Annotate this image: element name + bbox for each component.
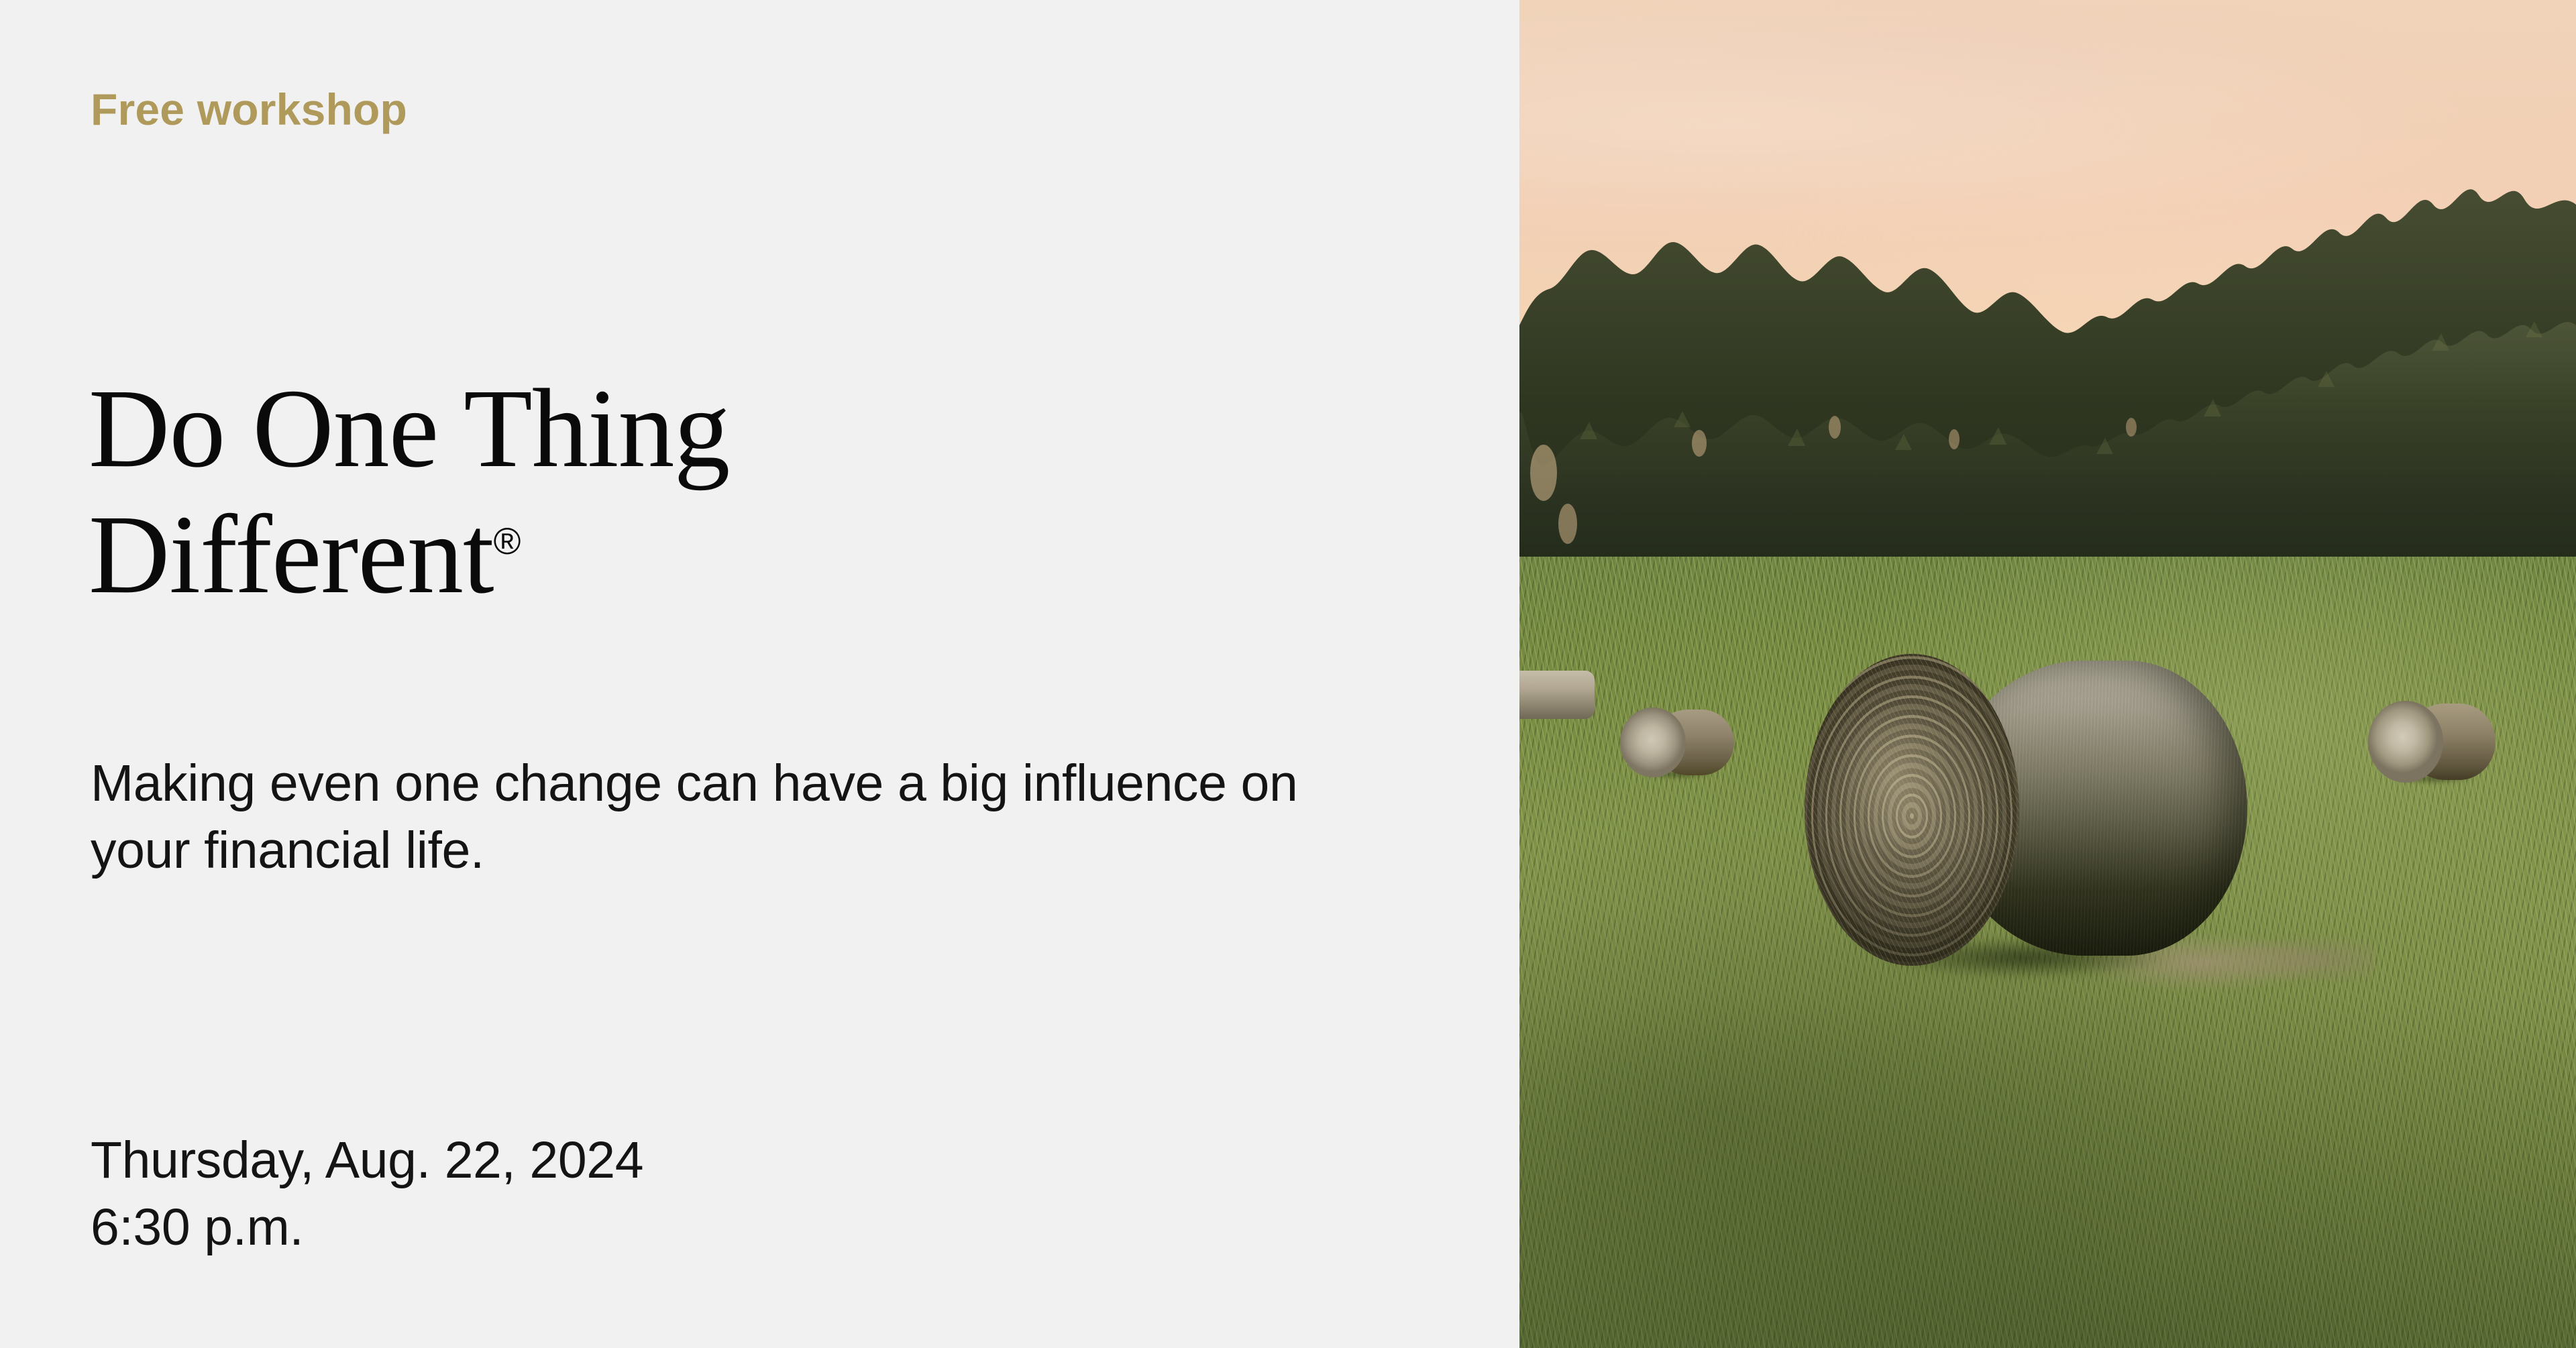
treeline xyxy=(1519,124,2576,607)
event-details: Thursday, Aug. 22, 2024 6:30 p.m. xyxy=(91,1127,643,1261)
headline-line-1: Do One Thing xyxy=(89,366,729,491)
background-hay-bale-left xyxy=(1620,708,1734,777)
workshop-promo-card: Free workshop Do One Thing Different® Ma… xyxy=(0,0,2576,1348)
bale-end-cap xyxy=(1805,654,2019,966)
foreground-hay-bale xyxy=(1805,654,2247,976)
event-date: Thursday, Aug. 22, 2024 xyxy=(91,1127,643,1194)
headline-line-2: Different xyxy=(89,492,494,617)
bale-end-cap xyxy=(1620,708,1686,777)
text-panel: Free workshop Do One Thing Different® Ma… xyxy=(0,0,1519,1348)
bale-body xyxy=(1519,671,1595,719)
registered-trademark-icon: ® xyxy=(494,520,521,562)
background-hay-bale-right xyxy=(2368,701,2495,783)
hero-photo xyxy=(1519,0,2576,1348)
event-time: 6:30 p.m. xyxy=(91,1194,643,1261)
page-title: Do One Thing Different® xyxy=(89,366,1430,618)
background-hay-bale-left-edge xyxy=(1519,671,1595,719)
eyebrow-label: Free workshop xyxy=(91,87,407,131)
bale-end-cap xyxy=(2368,701,2443,783)
subheadline-text: Making even one change can have a big in… xyxy=(91,750,1379,884)
